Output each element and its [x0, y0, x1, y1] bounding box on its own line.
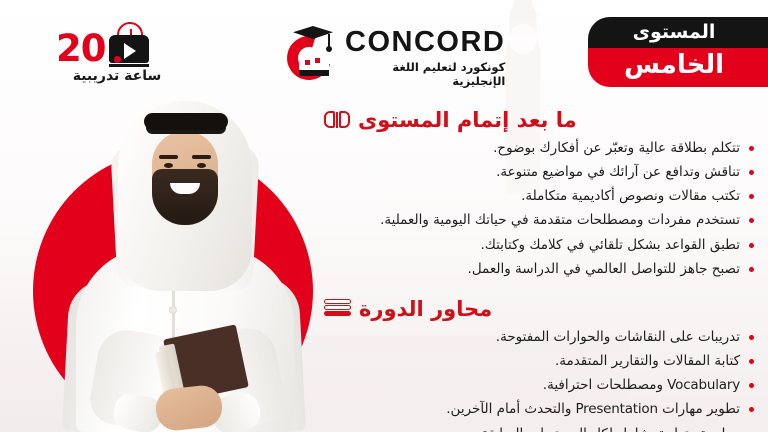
list-item: تصبح جاهز للتواصل العالمي في الدراسة وال…: [324, 260, 754, 279]
person-eyebrow: [192, 155, 211, 159]
list-item: مراجعة وتطبيق شامل لكل المستويات السابقة…: [324, 425, 754, 432]
hours-caption: ساعة تدريبية: [56, 68, 178, 84]
record-dot-icon: [114, 56, 121, 63]
brand-subtitle: كونكورد لتعليم اللغة الإنجليزية: [345, 60, 505, 88]
person-eye: [164, 163, 173, 168]
topics-list: تدريبات على النقاشات والحوارات المفتوحة.…: [324, 328, 754, 432]
list-item: تطبق القواعد بشكل تلقائي في كلامك وكتابت…: [324, 236, 754, 255]
person-agal: [144, 113, 228, 130]
list-item: كتابة المقالات والتقارير المتقدمة.: [324, 352, 754, 371]
list-item: تناقش وتدافع عن آرائك في مواضيع متنوعة.: [324, 163, 754, 182]
level-badge: المستوى الخامس: [588, 17, 768, 87]
accent-square: [305, 60, 310, 65]
list-item: تكتب مقالات ونصوص أكاديمية متكاملة.: [324, 187, 754, 206]
stacked-books-icon: [324, 299, 351, 319]
instructor-photo: [60, 95, 310, 432]
clock-video-play-icon: [109, 22, 149, 66]
brand-logo: CONCORD كونكورد لتعليم اللغة الإنجليزية: [283, 24, 493, 86]
icon-underline: [109, 64, 149, 67]
outcomes-list: تتكلم بطلاقة عالية وتعبّر عن أفكارك بوضو…: [324, 139, 754, 279]
promo-poster: 20 ساعة تدريبية CONCORD كونكورد لتعليم ا…: [0, 0, 768, 432]
list-item: تتكلم بطلاقة عالية وتعبّر عن أفكارك بوضو…: [324, 139, 754, 158]
section-title-topics: محاور الدورة: [359, 297, 492, 321]
hours-number: 20: [56, 31, 106, 66]
accent-square: [315, 58, 320, 63]
whiteboard-icon: [299, 56, 329, 76]
person-eye: [197, 163, 206, 168]
list-item: تدريبات على النقاشات والحوارات المفتوحة.: [324, 328, 754, 347]
person-eyebrow: [159, 155, 178, 159]
section-header-outcomes: ما بعد إتمام المستوى: [324, 108, 754, 132]
cap-tassel-icon: [328, 34, 330, 48]
list-item: تستخدم مفردات ومصطلحات متقدمة في حياتك ا…: [324, 211, 754, 230]
play-icon: [124, 43, 136, 59]
level-value: الخامس: [588, 48, 768, 87]
training-hours-badge: 20 ساعة تدريبية: [56, 22, 178, 92]
brand-name: CONCORD: [345, 28, 505, 57]
section-header-topics: محاور الدورة: [324, 297, 754, 321]
person-button: [170, 307, 176, 313]
concord-mark-icon: [283, 26, 341, 82]
section-title-outcomes: ما بعد إتمام المستوى: [358, 108, 577, 132]
list-item: Vocabulary ومصطلحات احترافية.: [324, 376, 754, 395]
open-book-icon: [324, 110, 350, 130]
hours-badge-row: 20: [56, 22, 149, 66]
list-item: تطوير مهارات Presentation والتحدث أمام ا…: [324, 400, 754, 419]
content-area: ما بعد إتمام المستوى تتكلم بطلاقة عالية …: [324, 108, 754, 432]
level-label: المستوى: [588, 17, 768, 48]
brand-text: CONCORD كونكورد لتعليم اللغة الإنجليزية: [345, 28, 505, 88]
